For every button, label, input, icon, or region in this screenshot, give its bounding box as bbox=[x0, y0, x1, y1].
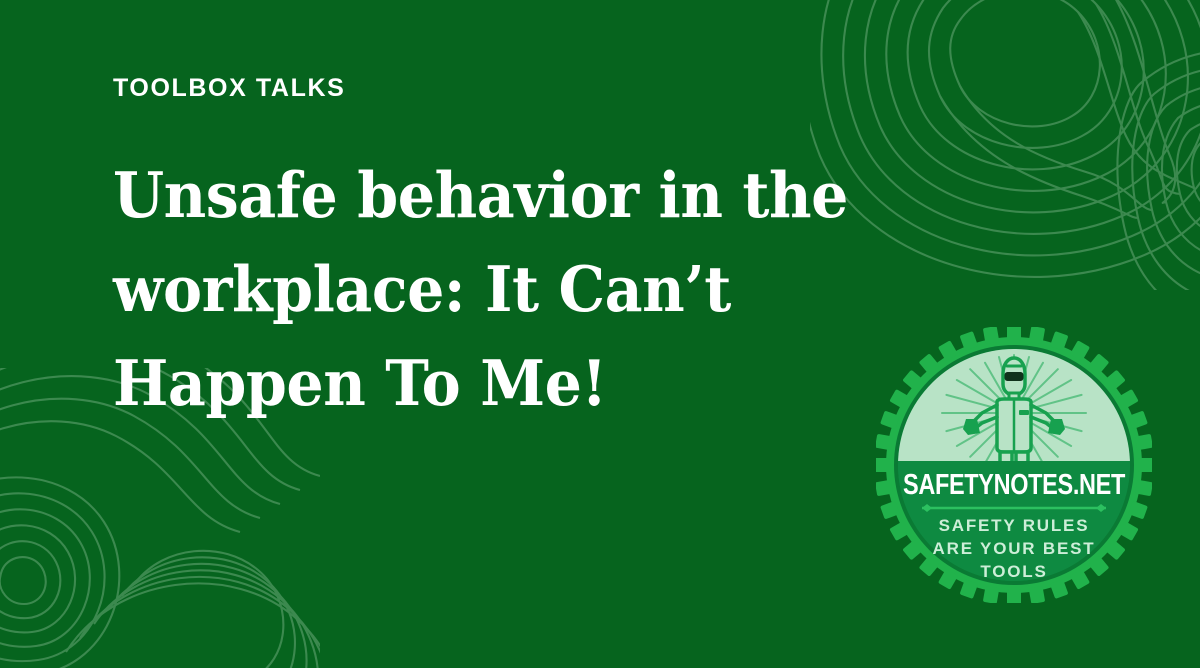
page-title: Unsafe behavior in the workplace: It Can… bbox=[113, 148, 885, 430]
category-eyebrow: TOOLBOX TALKS bbox=[113, 76, 943, 101]
badge-tagline-line-1: SAFETY RULES bbox=[939, 516, 1090, 535]
badge-brand-text: SAFETYNOTES.NET bbox=[903, 469, 1126, 501]
badge-tagline-line-3: TOOLS bbox=[980, 562, 1047, 581]
safetynotes-badge-logo: SAFETYNOTES.NET SAFETY RULES ARE YOUR BE… bbox=[876, 327, 1152, 603]
badge-tagline-line-2: ARE YOUR BEST bbox=[933, 539, 1096, 558]
hero-content: TOOLBOX TALKS Unsafe behavior in the wor… bbox=[113, 76, 943, 430]
